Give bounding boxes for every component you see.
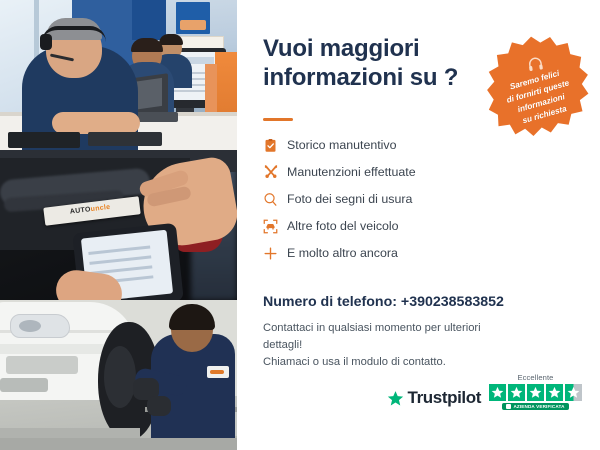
wheel-rim-shape: [104, 346, 136, 408]
title-divider: [263, 118, 293, 121]
trustpilot-wordmark: Trustpilot: [408, 388, 481, 408]
keyboard-shape: [88, 132, 162, 146]
star-icon: [527, 384, 544, 401]
star-half-icon: [565, 384, 582, 401]
star-icon: [546, 384, 563, 401]
contact-instructions: Contattaci in qualsiasi momento per ulte…: [263, 320, 513, 370]
page-title: Vuoi maggiori informazioni su ?: [263, 34, 478, 93]
magnifier-icon: [263, 192, 287, 207]
trustpilot-logo: Trustpilot: [387, 388, 481, 410]
advertisement-banner: AUTOuncle: [0, 0, 600, 450]
vehicle-sticker-tablet-photo: AUTOuncle: [0, 150, 237, 300]
keyboard-shape-2: [8, 132, 80, 148]
headset-earcup-shape: [40, 34, 52, 50]
car-scan-frame-icon: [263, 219, 287, 234]
star-icon: [508, 384, 525, 401]
verified-badge-label: AZIENDA VERIFICATA: [513, 404, 564, 409]
call-center-agents-photo: [0, 0, 237, 150]
car-grille-shape: [6, 356, 78, 374]
wall-poster-shape: [176, 2, 210, 34]
list-item: Manutenzioni effettuate: [263, 159, 493, 185]
agent-3-hair-shape: [159, 34, 183, 45]
headline-line-2: informazioni su ?: [263, 63, 478, 92]
list-item: Storico manutentivo: [263, 132, 493, 158]
list-item-label: Manutenzioni effettuate: [287, 165, 416, 179]
tools-cross-icon: [263, 164, 287, 180]
list-item-label: Altre foto del veicolo: [287, 219, 399, 233]
list-item: Altre foto del veicolo: [263, 213, 493, 239]
garage-floor-shape: [0, 438, 237, 450]
blue-wall-shape-2: [132, 0, 166, 40]
verified-check-icon: [506, 404, 511, 409]
trustpilot-score-block: Eccellente: [489, 373, 582, 410]
agent-2-hair-shape: [131, 38, 163, 52]
headline-line-1: Vuoi maggiori: [263, 34, 478, 63]
list-item-label: Storico manutentivo: [287, 138, 397, 152]
star-icon: [489, 384, 506, 401]
trustpilot-star-icon: [387, 390, 404, 407]
promo-starburst-badge: Saremo felici di fornirti queste informa…: [479, 27, 596, 144]
agent-1-arm-shape: [52, 112, 140, 134]
mechanic-wheel-service-photo: [0, 300, 237, 450]
list-item-label: E molto altro ancora: [287, 246, 398, 260]
car-bumper-shape: [0, 344, 106, 354]
list-item-label: Foto dei segni di usura: [287, 192, 412, 206]
headlight-shape: [10, 314, 70, 338]
rating-label: Eccellente: [517, 373, 553, 382]
star-rating: [489, 384, 582, 401]
verified-company-badge: AZIENDA VERIFICATA: [502, 403, 568, 410]
contact-line-1: Contattaci in qualsiasi momento per ulte…: [263, 320, 513, 354]
uniform-logo-shape: [207, 366, 229, 378]
glove-shape-2: [147, 396, 171, 416]
photo-column: AUTOuncle: [0, 0, 237, 450]
feature-list: Storico manutentivo Manutenzioni effettu…: [263, 132, 493, 267]
phone-number-label[interactable]: Numero di telefono: +390238583852: [263, 294, 504, 310]
car-grille-shape-2: [0, 378, 48, 392]
clipboard-check-icon: [263, 138, 287, 153]
plus-icon: [263, 246, 287, 261]
list-item: E molto altro ancora: [263, 240, 493, 266]
content-panel: Vuoi maggiori informazioni su ? Saremo f…: [237, 0, 600, 450]
trustpilot-rating[interactable]: Trustpilot Eccellente: [387, 373, 582, 410]
list-item: Foto dei segni di usura: [263, 186, 493, 212]
contact-line-2: Chiamaci o usa il modulo di contatto.: [263, 354, 513, 371]
